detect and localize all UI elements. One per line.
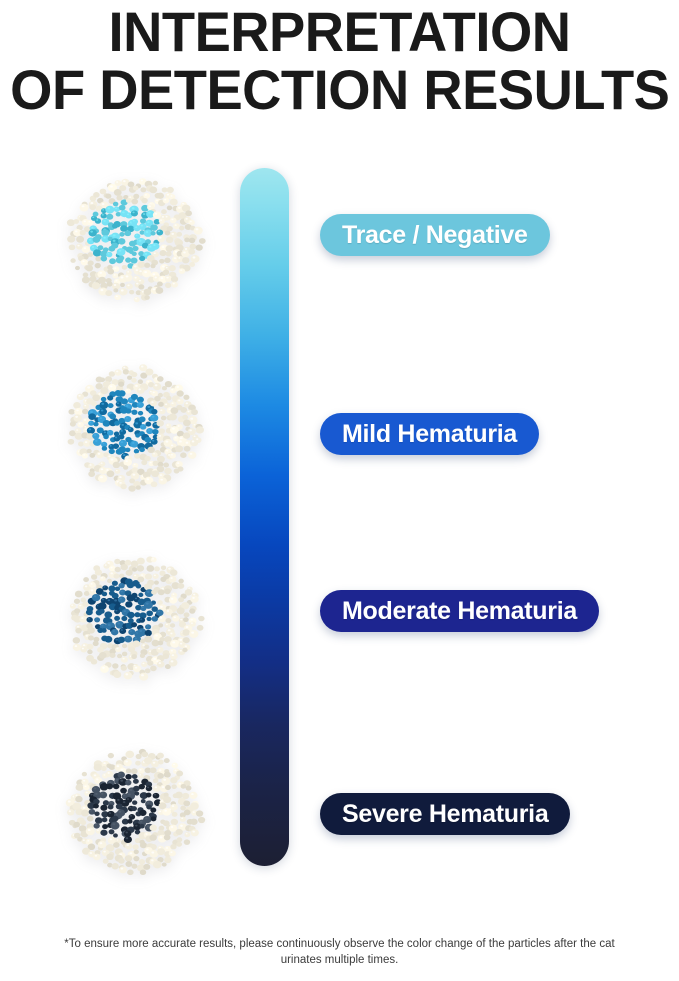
litter-granule	[161, 209, 167, 214]
litter-granule-highlight	[117, 402, 119, 403]
litter-granule-highlight	[139, 270, 142, 272]
litter-granule	[106, 252, 112, 257]
litter-granule-highlight	[192, 440, 195, 442]
litter-granule-highlight	[172, 641, 175, 643]
litter-granule	[180, 452, 187, 458]
litter-granule-highlight	[191, 793, 194, 795]
litter-granule-highlight	[129, 196, 131, 198]
litter-granule-highlight	[71, 605, 73, 606]
litter-granule	[132, 774, 138, 779]
litter-granule	[165, 618, 171, 623]
litter-granule-highlight	[100, 476, 103, 478]
litter-granule	[124, 830, 131, 837]
litter-granule	[156, 420, 164, 427]
litter-granule	[190, 439, 198, 446]
litter-granule	[165, 283, 171, 288]
litter-granule-highlight	[121, 868, 124, 870]
litter-granule	[151, 761, 159, 768]
litter-granule	[121, 564, 128, 570]
litter-granule	[183, 617, 189, 622]
litter-granule	[177, 607, 185, 614]
litter-granule-highlight	[119, 773, 121, 775]
litter-granule	[144, 601, 153, 609]
litter-granule-highlight	[110, 185, 113, 187]
litter-granule	[182, 648, 187, 652]
litter-granule	[122, 652, 127, 657]
litter-granule	[180, 817, 186, 822]
litter-granule	[114, 369, 121, 375]
litter-granule-highlight	[160, 220, 162, 221]
litter-granule-highlight	[151, 859, 154, 861]
litter-granule	[131, 768, 138, 774]
litter-granule	[175, 445, 183, 452]
litter-granule	[163, 796, 171, 803]
litter-granule	[112, 663, 118, 669]
litter-granule-highlight	[108, 431, 110, 433]
litter-granule-highlight	[181, 818, 183, 820]
litter-granule-highlight	[130, 815, 132, 817]
litter-granule	[177, 583, 184, 589]
litter-granule	[141, 662, 147, 667]
litter-granule	[125, 448, 130, 452]
litter-granule	[164, 258, 170, 263]
litter-granule-highlight	[76, 429, 78, 431]
litter-granule	[144, 437, 151, 443]
litter-granule-highlight	[155, 635, 158, 637]
litter-granule-highlight	[127, 271, 129, 272]
litter-granule	[136, 754, 142, 759]
litter-granule	[183, 432, 190, 438]
litter-granule	[135, 761, 141, 766]
litter-granule-highlight	[164, 199, 166, 201]
litter-granule-highlight	[190, 418, 193, 420]
result-label-text: Mild Hematuria	[342, 422, 517, 447]
litter-granule	[94, 823, 100, 828]
litter-granule	[144, 583, 152, 590]
litter-granule	[164, 468, 172, 475]
litter-granule-highlight	[104, 586, 106, 587]
litter-granule	[150, 767, 157, 773]
litter-granule	[141, 751, 148, 757]
litter-granule	[139, 673, 148, 681]
litter-granule-highlight	[183, 252, 186, 254]
litter-granule	[123, 369, 129, 374]
litter-granule	[87, 220, 93, 226]
litter-granule-highlight	[83, 807, 86, 809]
litter-granule	[82, 772, 87, 777]
litter-granule-highlight	[88, 829, 91, 831]
litter-granule	[156, 610, 164, 617]
litter-granule-highlight	[173, 283, 175, 285]
litter-granule-highlight	[186, 626, 189, 628]
litter-granule	[164, 589, 171, 595]
litter-granule	[167, 187, 174, 193]
litter-granule-highlight	[102, 203, 105, 205]
litter-granule	[118, 434, 124, 439]
litter-granule-highlight	[161, 800, 163, 801]
litter-granule-highlight	[101, 462, 103, 464]
litter-granule	[112, 224, 118, 229]
litter-granule	[127, 582, 135, 589]
litter-granule	[102, 446, 107, 451]
litter-granule-highlight	[90, 810, 92, 812]
litter-granule-highlight	[155, 786, 157, 788]
litter-granule	[134, 297, 140, 302]
litter-granule	[161, 777, 170, 785]
litter-granule	[113, 202, 118, 207]
litter-granule	[99, 408, 107, 415]
litter-granule-highlight	[160, 606, 163, 608]
litter-granule-highlight	[192, 831, 195, 833]
litter-granule	[125, 861, 132, 867]
litter-granule-highlight	[185, 645, 187, 647]
litter-granule	[160, 250, 167, 256]
litter-granule-highlight	[119, 482, 122, 484]
litter-granule-highlight	[82, 260, 84, 262]
litter-granule	[131, 199, 138, 205]
litter-granule	[113, 462, 121, 469]
litter-granule	[143, 864, 150, 870]
litter-granule	[147, 617, 152, 621]
litter-granule	[119, 205, 126, 211]
litter-granule-highlight	[124, 610, 127, 612]
litter-granule	[127, 819, 132, 824]
result-label-text: Moderate Hematuria	[342, 599, 577, 624]
litter-granule	[86, 827, 95, 835]
litter-granule-highlight	[173, 764, 175, 766]
litter-granule-highlight	[146, 603, 149, 605]
litter-granule	[77, 422, 84, 428]
litter-granule	[120, 788, 127, 794]
litter-granule	[94, 811, 99, 816]
litter-granule	[119, 185, 126, 191]
litter-granule-highlight	[177, 386, 180, 388]
litter-granule	[138, 411, 143, 416]
litter-granule	[114, 294, 121, 300]
litter-granule	[185, 210, 192, 216]
litter-granule-highlight	[123, 367, 125, 369]
litter-granule	[166, 245, 174, 252]
litter-granule	[101, 229, 109, 236]
litter-granule-highlight	[98, 453, 100, 455]
litter-granule-highlight	[147, 825, 150, 827]
litter-granule	[166, 251, 172, 256]
litter-granule	[119, 232, 124, 237]
litter-granule	[177, 398, 184, 404]
litter-granule	[157, 661, 165, 668]
litter-granule-highlight	[171, 219, 173, 221]
litter-granule-highlight	[171, 389, 173, 390]
litter-granule	[159, 408, 166, 414]
litter-granule-highlight	[69, 810, 71, 812]
litter-granule	[180, 407, 187, 413]
litter-granule-highlight	[110, 385, 113, 387]
litter-granule-highlight	[174, 616, 176, 618]
litter-granule-highlight	[164, 810, 167, 812]
litter-granule	[144, 263, 150, 268]
litter-granule-highlight	[115, 437, 117, 439]
litter-granule	[123, 759, 131, 766]
litter-granule-highlight	[159, 662, 162, 664]
litter-granule	[151, 481, 158, 487]
litter-granule-highlight	[122, 211, 125, 213]
litter-granule-highlight	[116, 371, 118, 373]
litter-granule	[158, 641, 164, 646]
litter-granule	[199, 238, 206, 244]
litter-granule	[126, 198, 132, 203]
litter-granule	[143, 816, 151, 823]
litter-granule-highlight	[96, 219, 98, 221]
litter-granule	[151, 557, 157, 562]
litter-granule-highlight	[117, 799, 120, 801]
litter-granule	[106, 214, 113, 220]
litter-granule-highlight	[128, 793, 131, 795]
litter-granule	[185, 589, 193, 596]
litter-granule	[151, 439, 158, 445]
litter-granule-highlight	[84, 247, 87, 249]
litter-granule	[138, 593, 143, 597]
litter-granule	[121, 484, 127, 489]
litter-granule-highlight	[105, 564, 107, 566]
litter-granule	[75, 266, 80, 270]
litter-granule-highlight	[85, 441, 87, 443]
litter-granule	[75, 591, 83, 598]
litter-granule	[157, 773, 164, 779]
litter-granule	[131, 622, 137, 627]
litter-granule-highlight	[167, 610, 169, 612]
litter-granule	[125, 843, 132, 849]
litter-granule-highlight	[139, 630, 142, 632]
litter-granule	[139, 256, 145, 261]
litter-granule	[88, 252, 93, 257]
litter-granule-highlight	[83, 644, 85, 646]
litter-granule	[99, 609, 105, 614]
litter-granule	[140, 842, 147, 848]
litter-granule-highlight	[162, 786, 165, 788]
litter-granule	[130, 257, 137, 263]
litter-granule-highlight	[191, 619, 193, 621]
litter-granule	[183, 395, 189, 400]
litter-granule	[103, 434, 109, 439]
litter-granule	[114, 616, 120, 621]
litter-granule-highlight	[127, 844, 129, 846]
litter-granule-highlight	[115, 639, 118, 641]
litter-granule	[88, 635, 94, 640]
litter-granule	[106, 854, 113, 860]
litter-granule-highlight	[166, 624, 168, 626]
litter-granule-highlight	[85, 786, 87, 788]
litter-granule	[104, 611, 112, 618]
litter-granule	[124, 274, 133, 282]
litter-granule	[156, 230, 163, 236]
litter-granule	[151, 390, 158, 396]
litter-granule-highlight	[180, 619, 182, 621]
footer-note: *To ensure more accurate results, please…	[50, 936, 629, 968]
litter-granule	[181, 784, 187, 789]
litter-granule-highlight	[153, 273, 156, 275]
litter-granule	[145, 573, 152, 579]
litter-granule	[137, 402, 144, 408]
litter-granule	[101, 213, 107, 218]
litter-granule	[163, 270, 169, 276]
litter-granule-highlight	[95, 618, 97, 619]
litter-granule	[125, 257, 131, 262]
litter-granule	[93, 804, 99, 809]
litter-granule	[182, 257, 189, 263]
litter-granule-highlight	[129, 428, 131, 429]
litter-granule	[70, 604, 76, 609]
litter-granule	[157, 753, 164, 759]
litter-granule	[67, 219, 75, 226]
litter-granule-highlight	[151, 851, 154, 853]
litter-granule	[164, 835, 171, 841]
litter-granule-highlight	[158, 611, 160, 613]
litter-granule	[113, 671, 121, 678]
litter-granule-highlight	[188, 411, 190, 413]
litter-granule	[118, 390, 125, 396]
litter-granule-highlight	[180, 643, 182, 645]
litter-granule-highlight	[101, 577, 103, 578]
litter-granule-highlight	[75, 645, 78, 647]
litter-granule-highlight	[110, 838, 113, 840]
litter-granule	[153, 793, 160, 799]
litter-granule	[113, 784, 120, 790]
litter-granule	[86, 609, 93, 615]
litter-granule-highlight	[81, 617, 83, 619]
litter-granule	[140, 218, 146, 223]
litter-granule-highlight	[168, 408, 170, 410]
litter-granule	[145, 630, 152, 636]
litter-granule	[138, 284, 144, 289]
litter-granule-highlight	[121, 769, 123, 771]
litter-granule-highlight	[79, 423, 81, 425]
litter-granule-highlight	[147, 787, 149, 789]
litter-granule	[154, 566, 160, 571]
litter-granule	[139, 824, 144, 829]
litter-granule-highlight	[135, 422, 138, 424]
litter-granule-highlight	[171, 195, 173, 196]
litter-granule	[171, 784, 176, 789]
litter-granule	[126, 570, 133, 576]
litter-granule-highlight	[155, 384, 158, 386]
litter-granule-highlight	[134, 265, 137, 267]
litter-granule	[109, 371, 115, 377]
litter-granule-highlight	[163, 779, 166, 781]
litter-granule	[74, 822, 81, 828]
litter-granule-highlight	[101, 403, 104, 405]
litter-granule	[167, 226, 173, 231]
litter-granule	[131, 378, 137, 383]
litter-granule-highlight	[90, 852, 92, 854]
litter-granule-highlight	[178, 400, 180, 402]
litter-granule-highlight	[155, 213, 158, 215]
litter-granule-highlight	[153, 288, 156, 290]
litter-granule	[170, 804, 178, 811]
litter-granule-highlight	[96, 778, 98, 780]
litter-granule	[196, 426, 204, 433]
litter-granule-highlight	[138, 403, 140, 405]
litter-granule	[124, 636, 132, 643]
litter-granule	[88, 463, 94, 469]
result-label-pill: Trace / Negative	[320, 214, 550, 256]
litter-granule	[153, 181, 158, 186]
litter-granule	[119, 256, 125, 261]
litter-granule	[188, 249, 195, 255]
litter-granule-highlight	[135, 385, 138, 387]
litter-granule-highlight	[115, 208, 117, 210]
litter-granule-highlight	[154, 794, 156, 796]
litter-granule-highlight	[90, 464, 92, 466]
litter-granule-highlight	[130, 630, 132, 632]
litter-granule-highlight	[136, 235, 138, 236]
litter-granule	[101, 397, 106, 402]
litter-granule	[175, 792, 183, 799]
litter-granule-highlight	[104, 431, 106, 433]
litter-granule	[146, 793, 152, 798]
page-title: INTERPRETATION OF DETECTION RESULTS	[0, 0, 679, 118]
litter-granule	[103, 563, 109, 568]
litter-granule	[132, 252, 137, 256]
litter-granule	[157, 456, 165, 463]
litter-granule	[74, 608, 80, 613]
litter-granule-highlight	[193, 594, 195, 596]
litter-granule	[131, 219, 138, 225]
litter-granule-highlight	[100, 289, 103, 291]
litter-granule	[122, 265, 128, 270]
litter-granule-highlight	[102, 667, 105, 669]
litter-granule	[139, 810, 146, 816]
litter-granule	[141, 198, 147, 204]
litter-granule-highlight	[139, 769, 141, 771]
litter-granule	[158, 402, 164, 407]
litter-granule	[170, 844, 176, 849]
litter-granule	[114, 421, 120, 426]
litter-granule-highlight	[167, 424, 169, 425]
litter-granule	[126, 797, 133, 803]
litter-granule-highlight	[77, 626, 80, 628]
litter-granule	[131, 394, 138, 400]
litter-granule-highlight	[90, 411, 93, 413]
litter-granule	[117, 248, 126, 256]
litter-granule	[166, 396, 171, 401]
litter-granule	[133, 779, 139, 784]
litter-granule-highlight	[162, 246, 165, 248]
litter-granule-highlight	[116, 470, 118, 471]
litter-granule	[142, 269, 151, 277]
litter-granule	[83, 784, 90, 790]
litter-granule	[125, 774, 132, 780]
litter-granule	[82, 602, 88, 607]
litter-granule-highlight	[130, 789, 133, 791]
litter-granule-highlight	[192, 597, 195, 599]
litter-granule	[98, 475, 107, 483]
litter-granule-highlight	[158, 231, 160, 233]
litter-granule-highlight	[186, 833, 188, 834]
litter-granule-highlight	[135, 637, 138, 639]
litter-granule-highlight	[68, 800, 71, 802]
litter-granule-highlight	[126, 837, 129, 839]
litter-granule-highlight	[109, 812, 112, 814]
result-label-text: Trace / Negative	[342, 223, 528, 248]
litter-granule-highlight	[89, 428, 92, 430]
litter-granule	[88, 471, 95, 477]
litter-granule	[153, 211, 161, 218]
litter-granule-highlight	[129, 398, 131, 400]
litter-granule-highlight	[85, 585, 88, 587]
litter-granule-highlight	[168, 568, 171, 570]
litter-granule-highlight	[182, 203, 184, 205]
result-label-pill: Moderate Hematuria	[320, 590, 599, 632]
